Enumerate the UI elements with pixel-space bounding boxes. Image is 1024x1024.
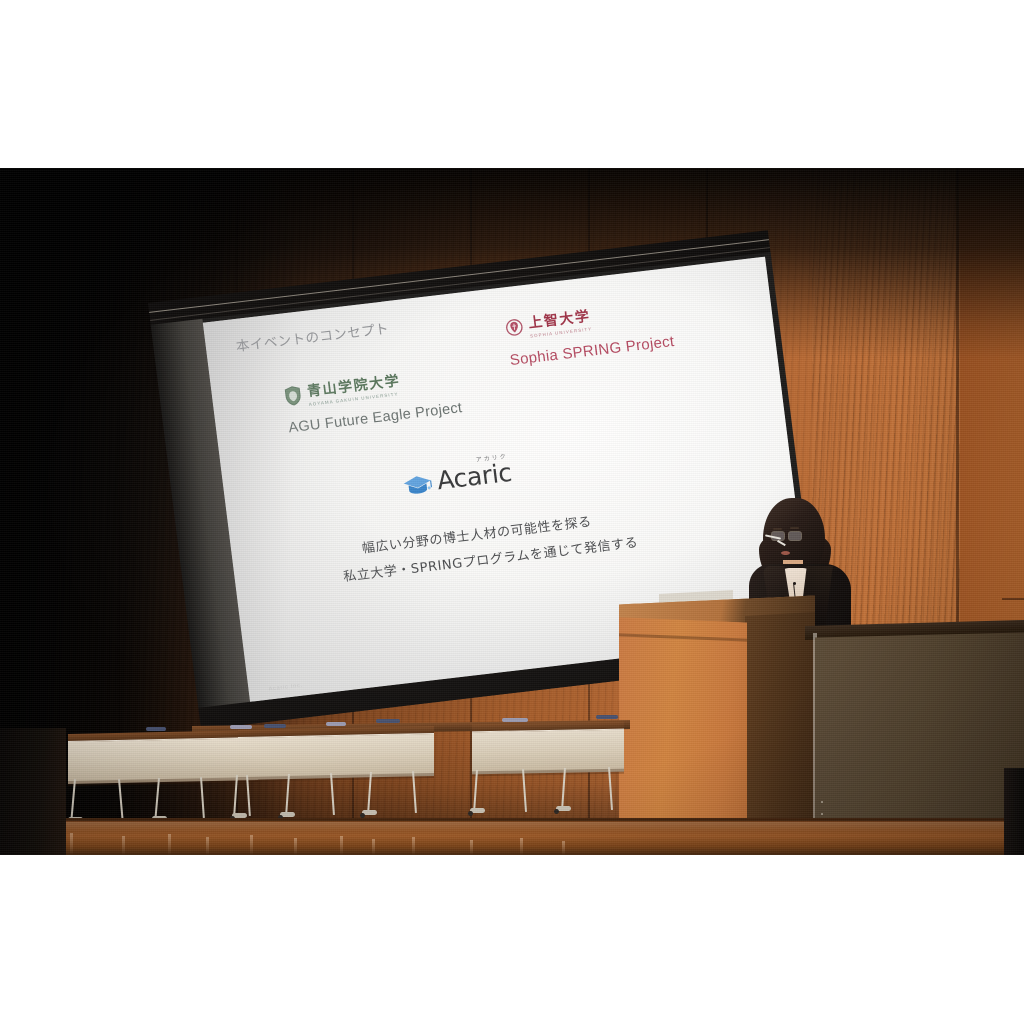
glasses-lens-right — [788, 531, 802, 541]
table-item — [596, 715, 618, 719]
foreground-shadow-right — [1004, 768, 1024, 855]
table-item — [326, 722, 346, 726]
floor-reflection — [520, 838, 523, 855]
table-item — [264, 724, 286, 728]
floor-reflection — [562, 841, 565, 855]
auditorium-photo: 本イベントのコンセプト 青山学院大学 AOYAMA GAKUIN UNIVERS… — [0, 168, 1024, 855]
eyebrow-right — [790, 527, 799, 529]
table-leg — [118, 779, 124, 819]
floor-reflection — [294, 838, 297, 855]
lectern — [617, 600, 817, 855]
table-caster — [554, 809, 559, 814]
stage-edge — [0, 818, 1024, 821]
floor-reflection — [372, 839, 375, 855]
floor-reflection — [340, 836, 343, 855]
table-modesty-panel — [472, 729, 624, 775]
mouth — [781, 551, 790, 555]
table-item — [230, 725, 252, 729]
foreground-shadow-left — [0, 728, 66, 855]
photo-letterbox-frame: 本イベントのコンセプト 青山学院大学 AOYAMA GAKUIN UNIVERS… — [0, 0, 1024, 1024]
floor-reflection — [470, 840, 473, 855]
wall-panel-seam — [1002, 598, 1024, 600]
table-item — [146, 727, 166, 731]
table-leg — [522, 769, 527, 812]
floor-reflection — [412, 837, 415, 855]
floor-reflection — [168, 834, 171, 855]
floor-reflection — [122, 836, 125, 855]
floor-reflection — [206, 837, 209, 855]
floor-reflection — [70, 833, 73, 855]
eyebrow-left — [773, 528, 782, 530]
av-console-screw — [821, 801, 823, 803]
av-console-screw — [821, 813, 823, 815]
stage-floor — [0, 818, 1024, 855]
table-caster — [468, 811, 473, 816]
table-item — [376, 719, 400, 723]
floor-reflection — [250, 835, 253, 855]
floor-sheen — [0, 822, 1024, 832]
table-item — [502, 718, 528, 722]
